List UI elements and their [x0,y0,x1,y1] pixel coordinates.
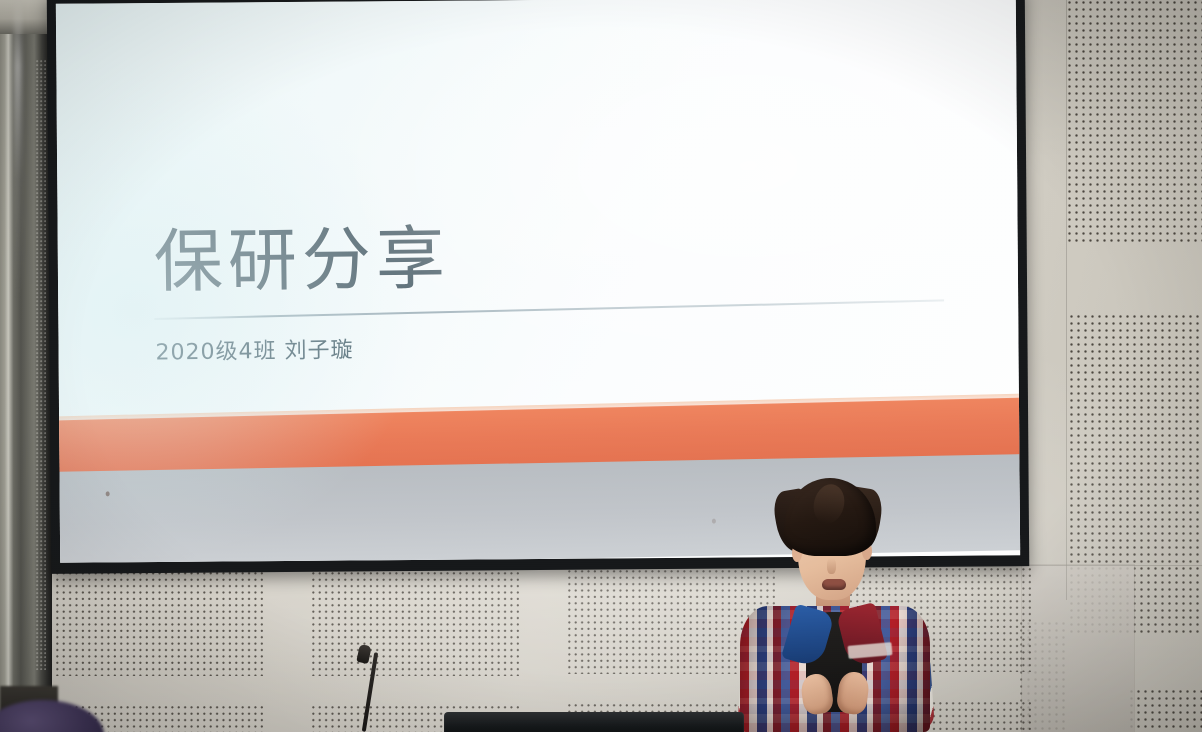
screen-speck [106,491,110,496]
slide-subtitle: 2020级4班 刘子璇 [155,332,353,367]
presenter-mouth [822,579,846,590]
room-pillar [0,0,52,732]
slide-divider-rule [154,299,944,320]
screen-speck [712,519,716,524]
pillar-highlight [14,0,22,300]
presenter [726,478,940,732]
slide-title: 保研分享 [153,225,450,298]
presenter-nose [827,558,836,574]
pillar-cap [0,0,52,34]
lecture-hall-scene: 保研分享 2020级4班 刘子璇 [0,0,1202,732]
podium-monitor [444,712,744,732]
pillar-vent-strip [36,60,46,670]
